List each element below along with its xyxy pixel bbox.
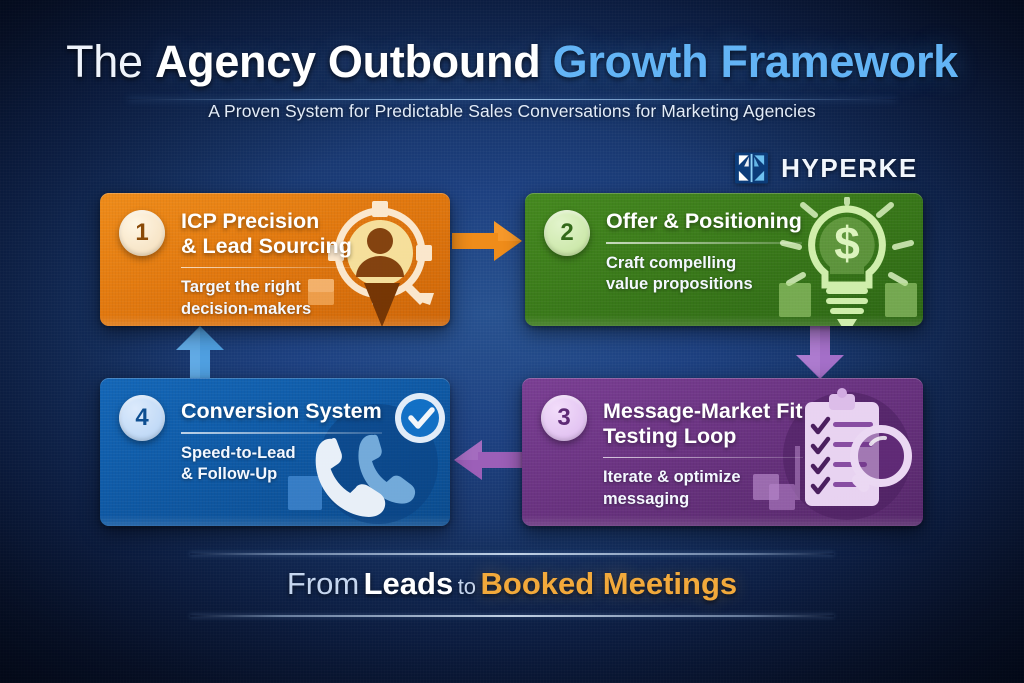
brand-wordmark: HYPERKE — [781, 153, 918, 184]
arrow-step3-to-step4 — [452, 437, 524, 483]
title-words-agency-outbound: Agency Outbound — [155, 36, 540, 87]
step-card-4[interactable]: 4 Conversion System Speed-to-Lead & Foll… — [100, 378, 450, 526]
step-title-4-line1: Conversion System — [181, 399, 382, 424]
hyperke-bowtie-logo-icon — [735, 152, 768, 184]
arrow-step4-to-step1 — [170, 325, 230, 380]
svg-text:$: $ — [834, 217, 860, 269]
card-gloss — [100, 515, 450, 526]
step-text-2: Offer & Positioning Craft compelling val… — [606, 209, 802, 295]
page-subtitle: A Proven System for Predictable Sales Co… — [0, 101, 1024, 122]
step-text-3: Message-Market Fit Testing Loop Iterate … — [603, 399, 803, 510]
card-gloss — [525, 315, 923, 326]
step-card-1[interactable]: 1 ICP Precision & Lead Sourcing Target t… — [100, 193, 450, 326]
step-desc-3-line2: messaging — [603, 489, 803, 510]
infographic-canvas: The Agency Outbound Growth Framework A P… — [0, 0, 1024, 683]
step-badge-1: 1 — [119, 210, 165, 256]
footer-divider-top — [190, 553, 834, 555]
footer-divider-bottom — [190, 615, 834, 617]
step-title-3-line1: Message-Market Fit — [603, 399, 803, 424]
step-badge-4: 4 — [119, 395, 165, 441]
step-desc-4-line2: & Follow-Up — [181, 464, 382, 485]
step-text-4: Conversion System Speed-to-Lead & Follow… — [181, 399, 382, 485]
header: The Agency Outbound Growth Framework A P… — [0, 0, 1024, 122]
title-word-the: The — [66, 36, 143, 87]
step-desc-2-line1: Craft compelling — [606, 253, 802, 274]
footer-words-booked-meetings: Booked Meetings — [481, 566, 738, 601]
title-divider — [128, 99, 896, 100]
card-gloss — [522, 515, 923, 526]
footer-word-to: to — [458, 574, 476, 599]
page-title: The Agency Outbound Growth Framework — [0, 38, 1024, 87]
step-title-3-line2: Testing Loop — [603, 424, 803, 449]
arrow-step2-to-step3 — [790, 325, 850, 380]
step-desc-1-line2: decision-makers — [181, 299, 352, 320]
step-desc-3-line1: Iterate & optimize — [603, 467, 803, 488]
arrow-step1-to-step2 — [452, 218, 524, 264]
step-card-3[interactable]: 3 Message-Market Fit Testing Loop Iterat… — [522, 378, 923, 526]
brand-logo: HYPERKE — [735, 152, 918, 184]
step-title-1-line1: ICP Precision — [181, 209, 352, 234]
step-badge-3: 3 — [541, 395, 587, 441]
footer-tagline: From Leads to Booked Meetings — [0, 566, 1024, 602]
step-rule-1 — [181, 267, 352, 269]
title-words-growth-framework: Growth Framework — [553, 36, 958, 87]
step-rule-4 — [181, 432, 382, 434]
footer-word-from: From — [287, 566, 359, 601]
step-title-2-line1: Offer & Positioning — [606, 209, 802, 234]
step-desc-1-line1: Target the right — [181, 277, 352, 298]
step-text-1: ICP Precision & Lead Sourcing Target the… — [181, 209, 352, 320]
step-card-2[interactable]: $ 2 Offer & Positioning Craft compelling… — [525, 193, 923, 326]
step-desc-4-line1: Speed-to-Lead — [181, 443, 382, 464]
step-rule-2 — [606, 242, 802, 244]
step-desc-2-line2: value propositions — [606, 274, 802, 295]
step-badge-2: 2 — [544, 210, 590, 256]
step-rule-3 — [603, 457, 803, 459]
step-title-1-line2: & Lead Sourcing — [181, 234, 352, 259]
footer-word-leads: Leads — [364, 566, 454, 601]
